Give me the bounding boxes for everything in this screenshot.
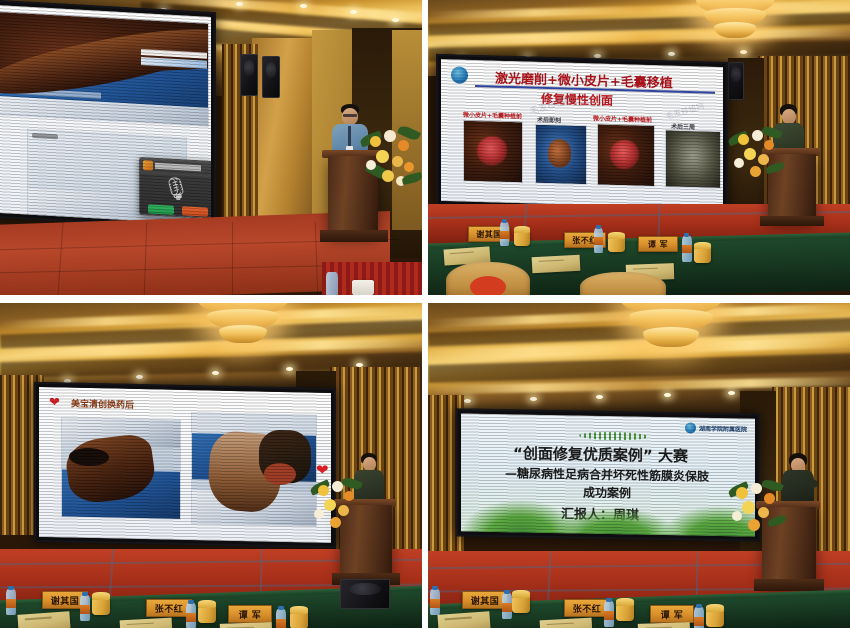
flower-bouquet — [310, 471, 364, 533]
laurel-branch-ornament — [579, 431, 649, 440]
tea-mug — [706, 611, 724, 627]
downlight-icon — [740, 50, 747, 54]
case-image-4 — [665, 129, 721, 189]
slide-top-left: 🎙 — [0, 5, 211, 225]
chandelier — [178, 303, 308, 353]
downlight-icon — [664, 393, 671, 397]
document-folder — [437, 611, 490, 628]
document-folder — [120, 618, 173, 628]
floor-monitor-speaker — [340, 579, 390, 609]
downlight-icon — [136, 375, 143, 379]
slide-bottom-right: 湖南学院附属医院 “创面修复优质案例” 大赛 —糖尿病性足病合并坏死性筋膜炎保肢… — [461, 413, 755, 536]
water-bottle — [430, 589, 440, 615]
tea-mug — [616, 605, 634, 621]
tea-mug-lid — [198, 600, 216, 608]
water-bottle — [80, 595, 90, 621]
document-folder — [540, 618, 593, 628]
slide-line3: 成功案例 — [583, 484, 631, 502]
water-bottle — [502, 593, 512, 619]
hospital-logo: 湖南学院附属医院 — [685, 422, 747, 434]
chair-cushion — [470, 276, 506, 295]
foot-photo-right — [191, 412, 317, 527]
namecard-3: 谭 军 — [650, 605, 694, 623]
face — [363, 457, 376, 471]
slide-top-right: 激光磨削+微小皮片+毛囊移植 修复慢性创面 微小皮片+毛囊种植前 术后即刻 微小… — [441, 59, 723, 209]
water-bottle — [186, 603, 196, 628]
tea-mug — [92, 599, 110, 615]
tea-mug-lid — [512, 590, 530, 598]
flower-bouquet — [358, 118, 422, 196]
chandelier — [680, 0, 790, 50]
document-folder — [17, 611, 70, 628]
namecard-3: 谭 军 — [638, 236, 678, 252]
flower-bouquet — [728, 120, 784, 182]
chandelier — [596, 303, 746, 359]
floor-tile-line — [232, 222, 233, 295]
hospital-logo — [451, 66, 468, 83]
water-bottle — [594, 228, 603, 253]
water-bottle — [326, 272, 338, 295]
panel-bottom-right[interactable]: 湖南学院附属医院 “创面修复优质案例” 大赛 —糖尿病性足病合并坏死性筋膜炎保肢… — [428, 303, 850, 628]
downlight-icon — [668, 52, 675, 56]
slide-caption: 美宝清创换药后 — [71, 397, 134, 411]
ceiling-speaker — [240, 54, 258, 96]
microphone-icon: 🎙 — [140, 176, 211, 202]
panel-bottom-left[interactable]: ❤ 美宝清创换药后 — [0, 303, 422, 628]
led-screen-bottom-right[interactable]: 湖南学院附属医院 “创面修复优质案例” 大赛 —糖尿病性足病合并坏死性筋膜炎保肢… — [456, 408, 760, 541]
ceiling-speaker — [728, 62, 744, 100]
water-bottle — [6, 589, 16, 615]
downlight-icon — [728, 391, 735, 395]
tea-mug-lid — [706, 604, 724, 612]
case-image-3-label: 微小皮片+毛囊种植前 — [593, 113, 652, 124]
case-image-1 — [463, 120, 523, 184]
slide-line2: —糖尿病性足病合并坏死性筋膜炎保肢 — [505, 464, 709, 485]
case-image-1-label: 微小皮片+毛囊种植前 — [463, 110, 522, 121]
tea-mug — [512, 597, 530, 613]
tea-mug-lid — [290, 606, 308, 614]
water-bottle — [604, 601, 614, 627]
tea-mug — [290, 613, 308, 628]
tea-mug — [694, 248, 711, 263]
slide-title: “创面修复优质案例” 大赛 — [513, 442, 688, 466]
case-image-2 — [535, 124, 587, 185]
chair[interactable] — [580, 272, 666, 295]
tea-mug-lid — [92, 592, 110, 600]
dialog-allow-button[interactable] — [148, 204, 174, 214]
water-bottle — [276, 609, 286, 628]
namecard-3: 谭 军 — [228, 605, 272, 623]
watermark: 毛发移植网 — [664, 100, 705, 122]
ceiling-speaker — [262, 56, 280, 98]
dialog-deny-button[interactable] — [182, 206, 208, 216]
face — [782, 109, 796, 124]
tea-mug-lid — [616, 598, 634, 606]
document-folder — [220, 622, 273, 628]
tea-mug-lid — [608, 232, 625, 239]
podium-base — [320, 230, 388, 242]
case-image-3 — [597, 123, 655, 187]
water-bottle — [682, 236, 692, 262]
flower-bouquet — [728, 473, 784, 537]
hospital-logo-text: 湖南学院附属医院 — [699, 424, 747, 434]
downlight-icon — [236, 2, 243, 6]
tea-mug-lid — [694, 242, 711, 249]
microphone-permission-dialog[interactable]: 🎙 — [139, 157, 211, 219]
downlight-icon — [392, 18, 399, 22]
downlight-icon — [212, 371, 219, 375]
downlight-icon — [350, 10, 357, 14]
led-screen-top-left[interactable]: 🎙 — [0, 0, 216, 230]
downlight-icon — [300, 4, 307, 8]
panel-top-left[interactable]: 🎙 — [0, 0, 422, 295]
glasses-icon — [343, 114, 357, 117]
tea-mug — [514, 232, 530, 246]
limb-photo-upper — [0, 11, 209, 127]
lanyard — [348, 126, 351, 148]
tea-mug — [352, 280, 374, 295]
photo-grid: 🎙 — [0, 0, 850, 628]
document-folder — [638, 622, 691, 628]
tea-mug-lid — [514, 226, 530, 233]
led-screen-top-right[interactable]: 激光磨削+微小皮片+毛囊移植 修复慢性创面 微小皮片+毛囊种植前 术后即刻 微小… — [436, 54, 728, 214]
slide-bottom-left: ❤ 美宝清创换药后 — [39, 387, 331, 543]
tea-mug — [198, 607, 216, 623]
podium-base — [754, 579, 824, 591]
led-screen-bottom-left[interactable]: ❤ 美宝清创换药后 — [34, 382, 336, 548]
tea-mug — [608, 238, 625, 252]
foot-photo-left — [61, 417, 181, 520]
downlight-icon — [596, 395, 603, 399]
water-bottle — [694, 607, 704, 628]
downlight-icon — [286, 367, 293, 371]
downlight-icon — [464, 399, 471, 403]
water-bottle — [500, 222, 509, 246]
app-icon — [143, 160, 153, 171]
document-folder — [532, 255, 581, 273]
downlight-icon — [530, 397, 537, 401]
panel-top-right[interactable]: 激光磨削+微小皮片+毛囊移植 修复慢性创面 微小皮片+毛囊种植前 术后即刻 微小… — [428, 0, 850, 295]
podium-base — [760, 216, 824, 226]
red-heart-icon: ❤ — [49, 395, 60, 408]
